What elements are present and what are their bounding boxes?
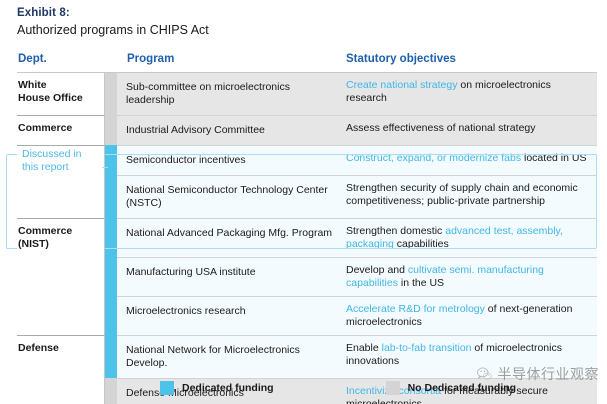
watermark-text: 半导体行业观察 bbox=[498, 364, 600, 384]
table-row: National Semiconductor Technology Center… bbox=[17, 175, 597, 218]
funding-indicator-bar bbox=[105, 175, 117, 218]
column-header-dept: Dept. bbox=[17, 52, 105, 66]
cell-program: National Advanced Packaging Mfg. Program bbox=[117, 218, 345, 257]
cell-objective: Assess effectiveness of national strateg… bbox=[345, 115, 597, 145]
objective-text: Strengthen security of supply chain and … bbox=[346, 182, 578, 207]
cell-program: Semiconductor incentives bbox=[117, 145, 345, 175]
cell-program: Microelectronics research bbox=[117, 296, 345, 335]
cell-objective: Strengthen domestic advanced test, assem… bbox=[345, 218, 597, 257]
legend: Dedicated funding No Dedicated funding bbox=[160, 381, 516, 395]
cell-objective: Accelerate R&D for metrology of next-gen… bbox=[345, 296, 597, 335]
objective-highlight: Create national strategy bbox=[346, 79, 457, 91]
legend-item-dedicated: Dedicated funding bbox=[160, 381, 274, 395]
objective-text: Develop and bbox=[346, 264, 408, 276]
page-title: Authorized programs in CHIPS Act bbox=[17, 22, 209, 39]
legend-label-dedicated: Dedicated funding bbox=[182, 382, 274, 394]
table-row: CommerceIndustrial Advisory CommitteeAss… bbox=[17, 115, 597, 145]
cell-program: National Semiconductor Technology Center… bbox=[117, 175, 345, 218]
table-row: Manufacturing USA instituteDevelop and c… bbox=[17, 257, 597, 296]
cell-department bbox=[17, 175, 105, 218]
column-header-objectives: Statutory objectives bbox=[345, 52, 597, 66]
cell-program: Manufacturing USA institute bbox=[117, 257, 345, 296]
objective-text: located in US bbox=[521, 152, 586, 164]
cell-objective: Create national strategy on microelectro… bbox=[345, 73, 597, 115]
cell-objective: Construct, expand, or modernize fabs loc… bbox=[345, 145, 597, 175]
title-block: Exhibit 8: Authorized programs in CHIPS … bbox=[17, 6, 209, 39]
cell-department: WhiteHouse Office bbox=[17, 73, 105, 115]
funding-indicator-bar bbox=[105, 378, 117, 404]
watermark: 半导体行业观察 bbox=[476, 364, 600, 384]
cell-objective: Strengthen security of supply chain and … bbox=[345, 175, 597, 218]
cell-program: Industrial Advisory Committee bbox=[117, 115, 345, 145]
objective-highlight: lab-to-fab transition bbox=[382, 342, 472, 354]
table-body: WhiteHouse OfficeSub-committee on microe… bbox=[17, 72, 597, 404]
table-header-row: Dept. Program Statutory objectives bbox=[17, 52, 597, 72]
exhibit-page: Exhibit 8: Authorized programs in CHIPS … bbox=[0, 0, 607, 404]
callout-line-1: Discussed in bbox=[22, 148, 102, 161]
funding-indicator-bar bbox=[105, 218, 117, 257]
objective-text: in the US bbox=[398, 277, 444, 289]
table-row: WhiteHouse OfficeSub-committee on microe… bbox=[17, 73, 597, 115]
table-row: Microelectronics researchAccelerate R&D … bbox=[17, 296, 597, 335]
objective-text: Assess effectiveness of national strateg… bbox=[346, 122, 536, 134]
programs-table: Dept. Program Statutory objectives White… bbox=[17, 52, 597, 404]
table-row: Commerce(NIST)National Advanced Packagin… bbox=[17, 218, 597, 257]
callout-line-2: this report bbox=[22, 161, 102, 174]
cell-department: Commerce bbox=[17, 115, 105, 145]
objective-text: Enable bbox=[346, 342, 382, 354]
funding-indicator-bar bbox=[105, 115, 117, 145]
funding-indicator-bar bbox=[105, 145, 117, 175]
cell-department bbox=[17, 378, 105, 404]
discussed-in-report-label: Discussed in this report bbox=[22, 148, 102, 174]
funding-indicator-bar bbox=[105, 296, 117, 335]
cell-objective: Develop and cultivate semi. manufacturin… bbox=[345, 257, 597, 296]
cell-department bbox=[17, 296, 105, 335]
cell-department: Commerce(NIST) bbox=[17, 218, 105, 257]
objective-text: capabilities bbox=[394, 238, 449, 250]
exhibit-label: Exhibit 8: bbox=[17, 6, 209, 21]
legend-swatch-dedicated bbox=[160, 381, 174, 395]
objective-text: Strengthen domestic bbox=[346, 225, 445, 237]
legend-swatch-no-dedicated bbox=[386, 381, 400, 395]
funding-indicator-bar bbox=[105, 257, 117, 296]
objective-highlight: Construct, expand, or modernize fabs bbox=[346, 152, 521, 164]
column-header-program: Program bbox=[118, 52, 345, 66]
funding-indicator-bar bbox=[105, 73, 117, 115]
funding-indicator-bar bbox=[105, 335, 117, 378]
cell-program: Sub-committee on microelectronics leader… bbox=[117, 73, 345, 115]
objective-highlight: Accelerate R&D for metrology bbox=[346, 303, 485, 315]
wechat-icon bbox=[476, 366, 493, 383]
cell-department bbox=[17, 257, 105, 296]
cell-program: National Network for Microelectronics De… bbox=[117, 335, 345, 378]
cell-department: Defense bbox=[17, 335, 105, 378]
table-row: Semiconductor incentivesConstruct, expan… bbox=[17, 145, 597, 175]
